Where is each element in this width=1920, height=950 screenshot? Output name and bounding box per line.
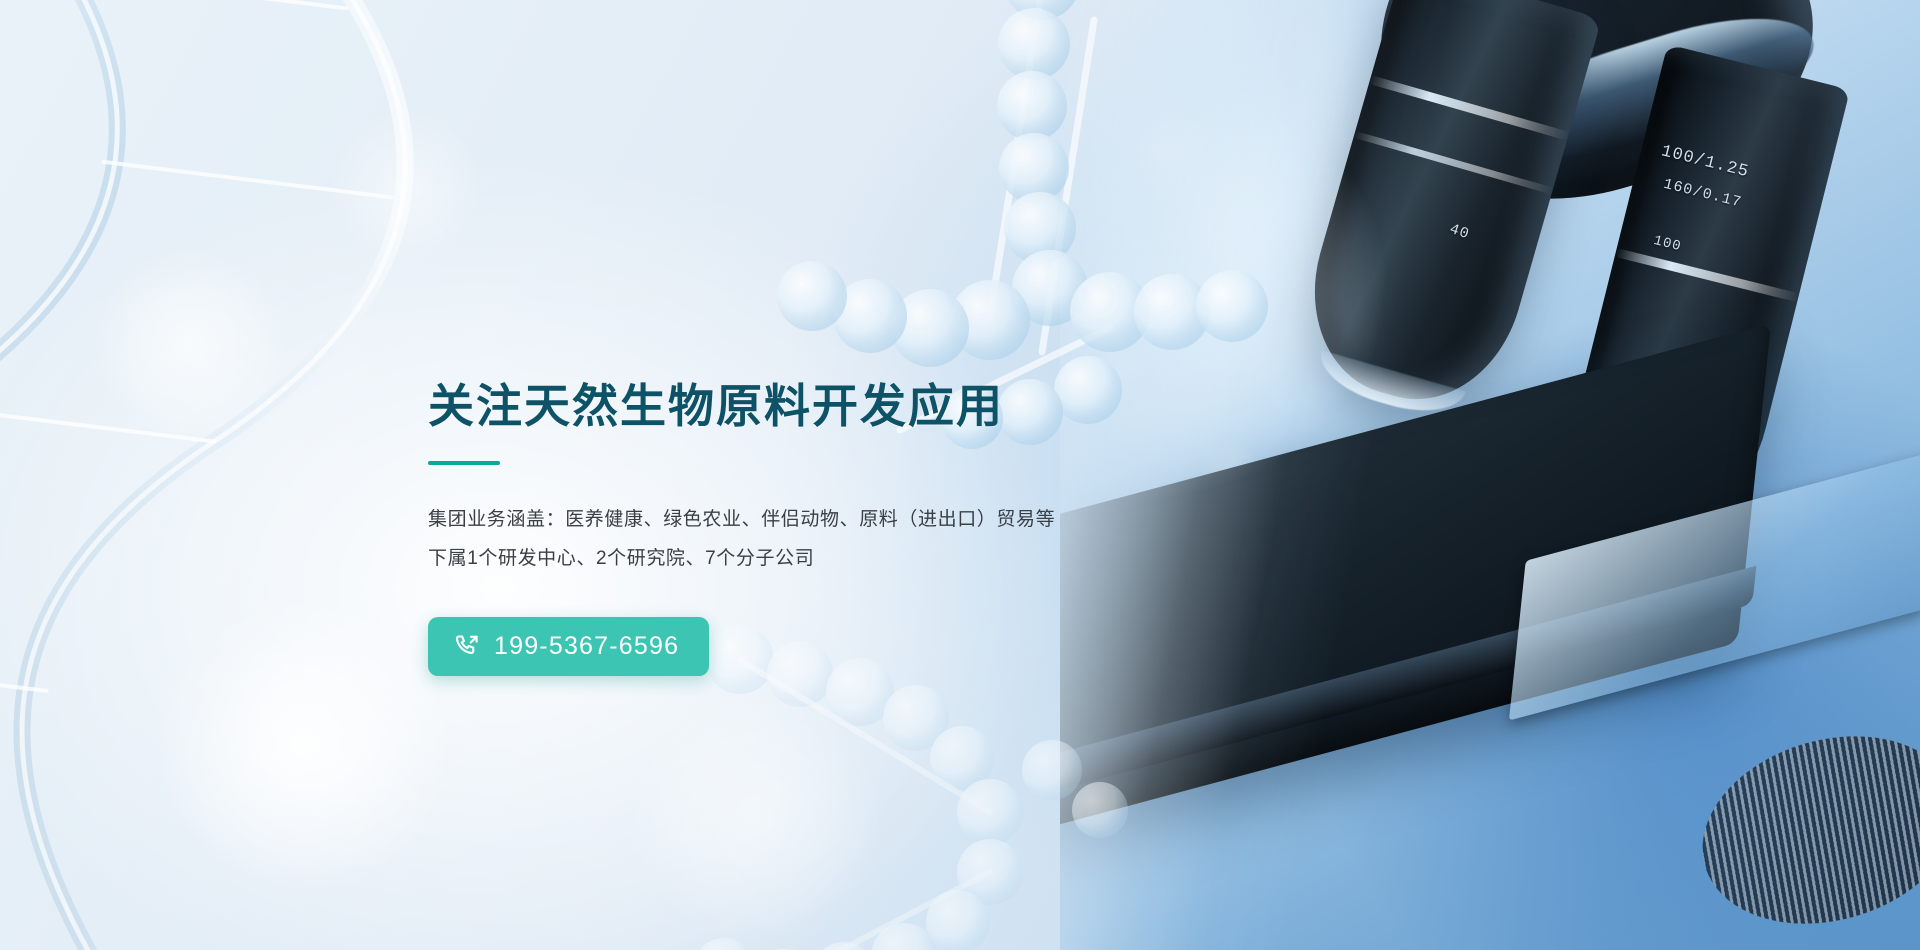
- hero-subtitle: 集团业务涵盖：医养健康、绿色农业、伴侣动物、原料（进出口）贸易等 下属1个研发中…: [428, 501, 1188, 579]
- title-underline-rule: [428, 461, 500, 465]
- page-title: 关注天然生物原料开发应用: [428, 380, 1188, 433]
- bokeh-glow: [160, 600, 450, 890]
- hero-banner: 40 100/1.25 160/0.17 100: [0, 0, 1920, 950]
- hero-content: 关注天然生物原料开发应用 集团业务涵盖：医养健康、绿色农业、伴侣动物、原料（进出…: [428, 380, 1188, 676]
- call-phone-button[interactable]: 199-5367-6596: [428, 617, 709, 676]
- subtitle-line-1: 集团业务涵盖：医养健康、绿色农业、伴侣动物、原料（进出口）贸易等: [428, 501, 1188, 540]
- subtitle-line-2: 下属1个研发中心、2个研究院、7个分子公司: [428, 540, 1188, 579]
- phone-number-label: 199-5367-6596: [494, 632, 679, 661]
- bokeh-glow: [330, 110, 480, 260]
- phone-outgoing-icon: [454, 633, 481, 660]
- bokeh-glow: [95, 250, 285, 440]
